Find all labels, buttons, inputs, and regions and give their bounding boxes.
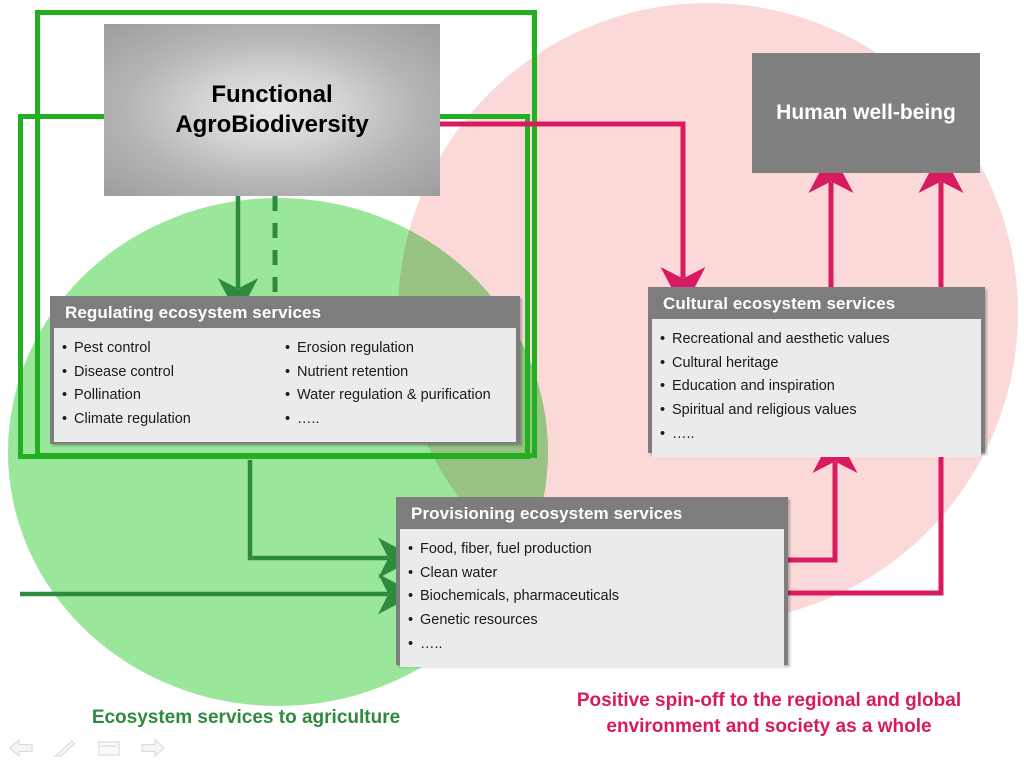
- list-item: Food, fiber, fuel production: [408, 538, 776, 562]
- slide-canvas: Functional AgroBiodiversity Human well-b…: [0, 0, 1024, 768]
- list-item: …..: [285, 408, 508, 432]
- slideshow-controls: [8, 738, 166, 763]
- pen-icon[interactable]: [52, 738, 78, 763]
- caption-ecosystem-services-to-agriculture: Ecosystem services to agriculture: [40, 705, 452, 731]
- list-item: Education and inspiration: [660, 375, 973, 399]
- list-item: Clean water: [408, 562, 776, 586]
- node-functional-agrobiodiversity[interactable]: Functional AgroBiodiversity: [104, 24, 440, 196]
- node-title: Human well-being: [776, 101, 956, 125]
- back-arrow-icon[interactable]: [8, 738, 34, 763]
- list-item: Climate regulation: [62, 408, 285, 432]
- node-title: Functional AgroBiodiversity: [175, 80, 368, 140]
- arrow-provisioning-to-cultural: [788, 462, 835, 560]
- node-body: Pest control Disease control Pollination…: [54, 328, 516, 442]
- list-item: …..: [408, 633, 776, 657]
- list-item: Water regulation & purification: [285, 384, 508, 408]
- node-cultural-ecosystem-services[interactable]: Cultural ecosystem services Recreational…: [648, 287, 985, 453]
- list-item: Erosion regulation: [285, 337, 508, 361]
- node-human-wellbeing[interactable]: Human well-being: [752, 53, 980, 173]
- node-body: Food, fiber, fuel production Clean water…: [400, 529, 784, 667]
- list-item: Cultural heritage: [660, 352, 973, 376]
- bullet-column: Recreational and aesthetic values Cultur…: [660, 328, 973, 447]
- arrow-green-inner-to-provisioning: [250, 460, 388, 558]
- list-item: Disease control: [62, 361, 285, 385]
- list-item: Pest control: [62, 337, 285, 361]
- bullet-column-left: Pest control Disease control Pollination…: [62, 337, 285, 432]
- list-item: Recreational and aesthetic values: [660, 328, 973, 352]
- node-header: Cultural ecosystem services: [652, 291, 981, 319]
- node-body: Recreational and aesthetic values Cultur…: [652, 319, 981, 457]
- list-item: Pollination: [62, 384, 285, 408]
- node-header: Provisioning ecosystem services: [400, 501, 784, 529]
- list-item: Spiritual and religious values: [660, 399, 973, 423]
- list-item: …..: [660, 423, 973, 447]
- bullet-column: Food, fiber, fuel production Clean water…: [408, 538, 776, 657]
- node-regulating-ecosystem-services[interactable]: Regulating ecosystem services Pest contr…: [50, 296, 520, 444]
- list-item: Biochemicals, pharmaceuticals: [408, 585, 776, 609]
- slide-menu-icon[interactable]: [96, 738, 122, 763]
- node-provisioning-ecosystem-services[interactable]: Provisioning ecosystem services Food, fi…: [396, 497, 788, 665]
- arrow-fab-to-cultural: [440, 124, 683, 278]
- list-item: Genetic resources: [408, 609, 776, 633]
- caption-positive-spin-off: Positive spin-off to the regional and gl…: [520, 688, 1018, 739]
- node-header: Regulating ecosystem services: [54, 300, 516, 328]
- forward-arrow-icon[interactable]: [140, 738, 166, 763]
- bullet-column-right: Erosion regulation Nutrient retention Wa…: [285, 337, 508, 432]
- list-item: Nutrient retention: [285, 361, 508, 385]
- path-provisioning-to-wellbeing: [788, 453, 941, 593]
